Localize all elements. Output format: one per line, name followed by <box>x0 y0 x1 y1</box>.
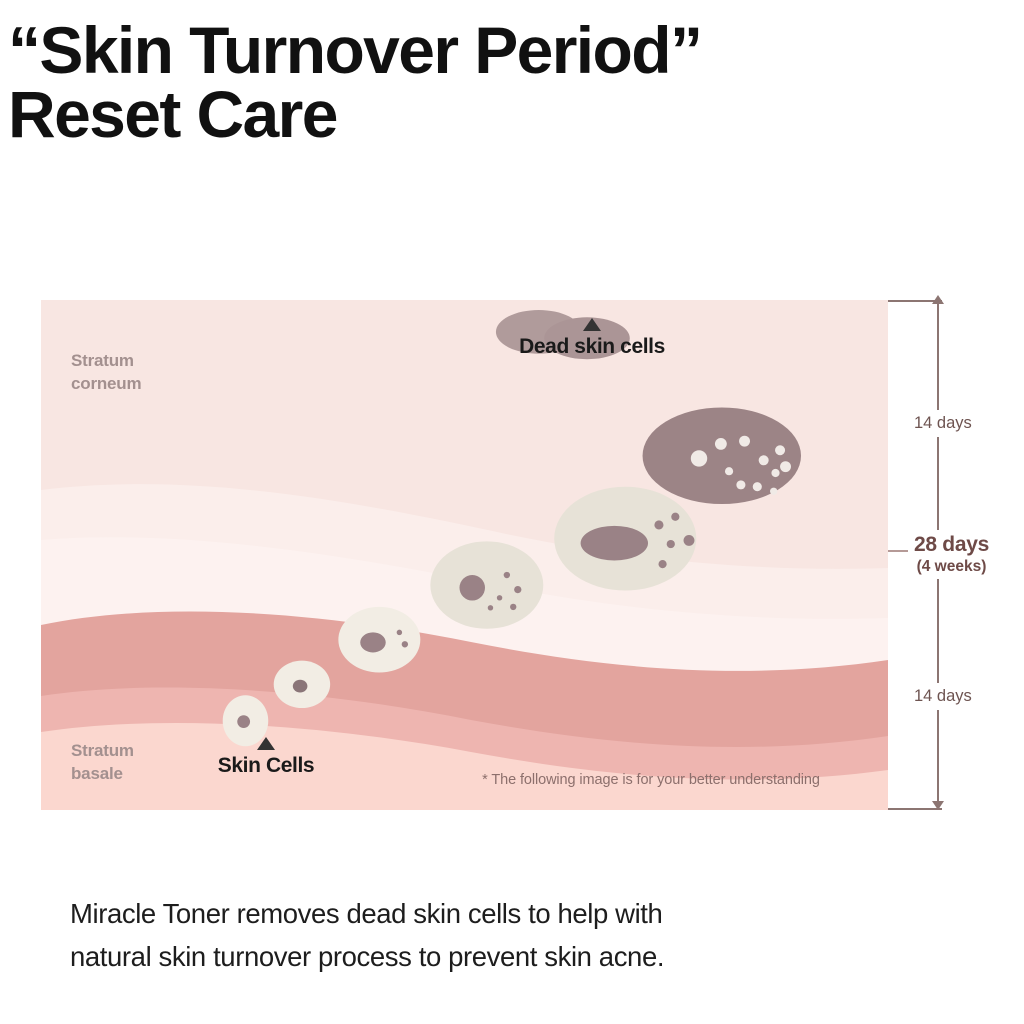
arrow-down-icon <box>932 801 944 810</box>
timeline-label-upper: 14 days <box>908 410 978 437</box>
triangle-marker-icon <box>583 318 601 331</box>
layer-label-stratum-corneum: Stratum corneum <box>71 350 141 396</box>
timeline-label-lower: 14 days <box>908 683 978 710</box>
callout-skin-cells: Skin Cells <box>151 737 381 778</box>
bottom-caption: Miracle Toner removes dead skin cells to… <box>70 893 960 978</box>
timeline-total-weeks: (4 weeks) <box>914 558 989 576</box>
callout-dead-skin-cells: Dead skin cells <box>447 318 737 359</box>
skin-layer-bands <box>41 300 888 810</box>
diagram-footnote: * The following image is for your better… <box>431 772 871 788</box>
callout-dead-skin-cells-label: Dead skin cells <box>519 335 665 358</box>
arrow-up-icon <box>932 295 944 304</box>
turnover-timeline-axis: 14 days 28 days (4 weeks) 14 days <box>888 295 1024 815</box>
timeline-label-total: 28 days (4 weeks) <box>908 530 995 579</box>
callout-skin-cells-label: Skin Cells <box>218 754 314 777</box>
diagram-background <box>41 300 888 810</box>
page-title: “Skin Turnover Period” Reset Care <box>8 18 1008 146</box>
skin-layers-diagram: Stratum corneum Stratum basale Dead skin… <box>41 300 888 810</box>
layer-label-stratum-basale: Stratum basale <box>71 740 134 786</box>
triangle-marker-icon <box>257 737 275 750</box>
infographic-root: “Skin Turnover Period” Reset Care <box>0 0 1024 1024</box>
timeline-total-days: 28 days <box>914 533 989 557</box>
